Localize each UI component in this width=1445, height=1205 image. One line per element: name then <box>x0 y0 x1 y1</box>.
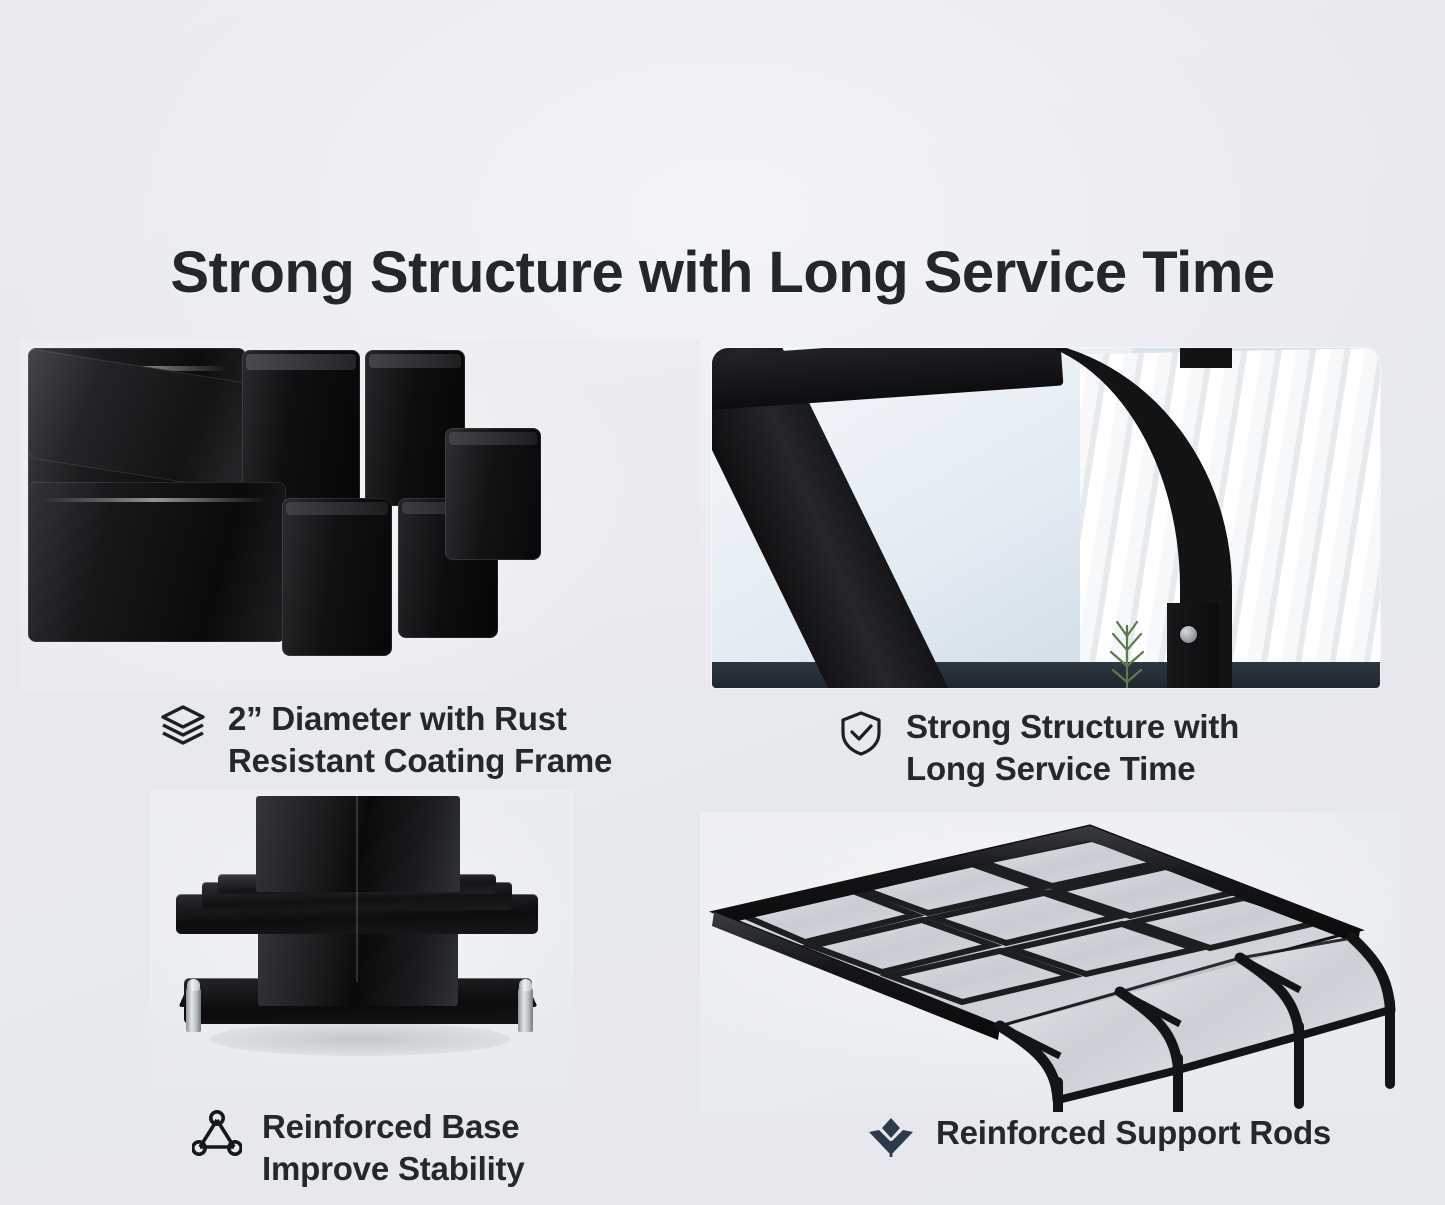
feature-caption-base: Reinforced Base Improve Stability <box>192 1106 525 1189</box>
post-corner-edge <box>356 796 358 982</box>
layers-icon <box>158 700 208 750</box>
anchor-bolt <box>186 986 201 1032</box>
photo-pergola-corner <box>712 348 1380 688</box>
feature-caption-label: 2” Diameter with Rust Resistant Coating … <box>228 698 612 781</box>
feature-caption-label: Strong Structure with Long Service Time <box>906 706 1239 789</box>
chevron-lotus-icon <box>866 1114 916 1164</box>
photo-carport-render <box>700 812 1400 1112</box>
shield-check-icon <box>836 708 886 758</box>
carport-3d-render <box>700 812 1400 1112</box>
photo-steel-tubes <box>20 340 700 692</box>
photo-base-plate <box>150 790 574 1090</box>
feature-caption-structure: Strong Structure with Long Service Time <box>836 706 1239 789</box>
feature-caption-support-rods: Reinforced Support Rods <box>866 1112 1331 1164</box>
anchor-bolt <box>518 986 533 1032</box>
page-title: Strong Structure with Long Service Time <box>0 243 1445 304</box>
bolt-icon <box>1180 626 1197 643</box>
tube-piece <box>445 428 541 560</box>
feature-caption-tube-frame: 2” Diameter with Rust Resistant Coating … <box>158 698 612 781</box>
tube-piece <box>28 482 286 642</box>
plant-decoration <box>1104 598 1150 688</box>
feature-caption-label: Reinforced Base Improve Stability <box>262 1106 525 1189</box>
infographic-page: Strong Structure with Long Service Time <box>0 0 1445 1205</box>
feature-caption-label: Reinforced Support Rods <box>936 1112 1331 1154</box>
triangle-nodes-icon <box>192 1108 242 1158</box>
page-title-container: Strong Structure with Long Service Time <box>0 243 1445 304</box>
tube-piece <box>282 498 392 656</box>
vertical-post <box>1167 603 1219 688</box>
reflection <box>210 1022 510 1056</box>
post-upper-segment <box>256 796 460 892</box>
